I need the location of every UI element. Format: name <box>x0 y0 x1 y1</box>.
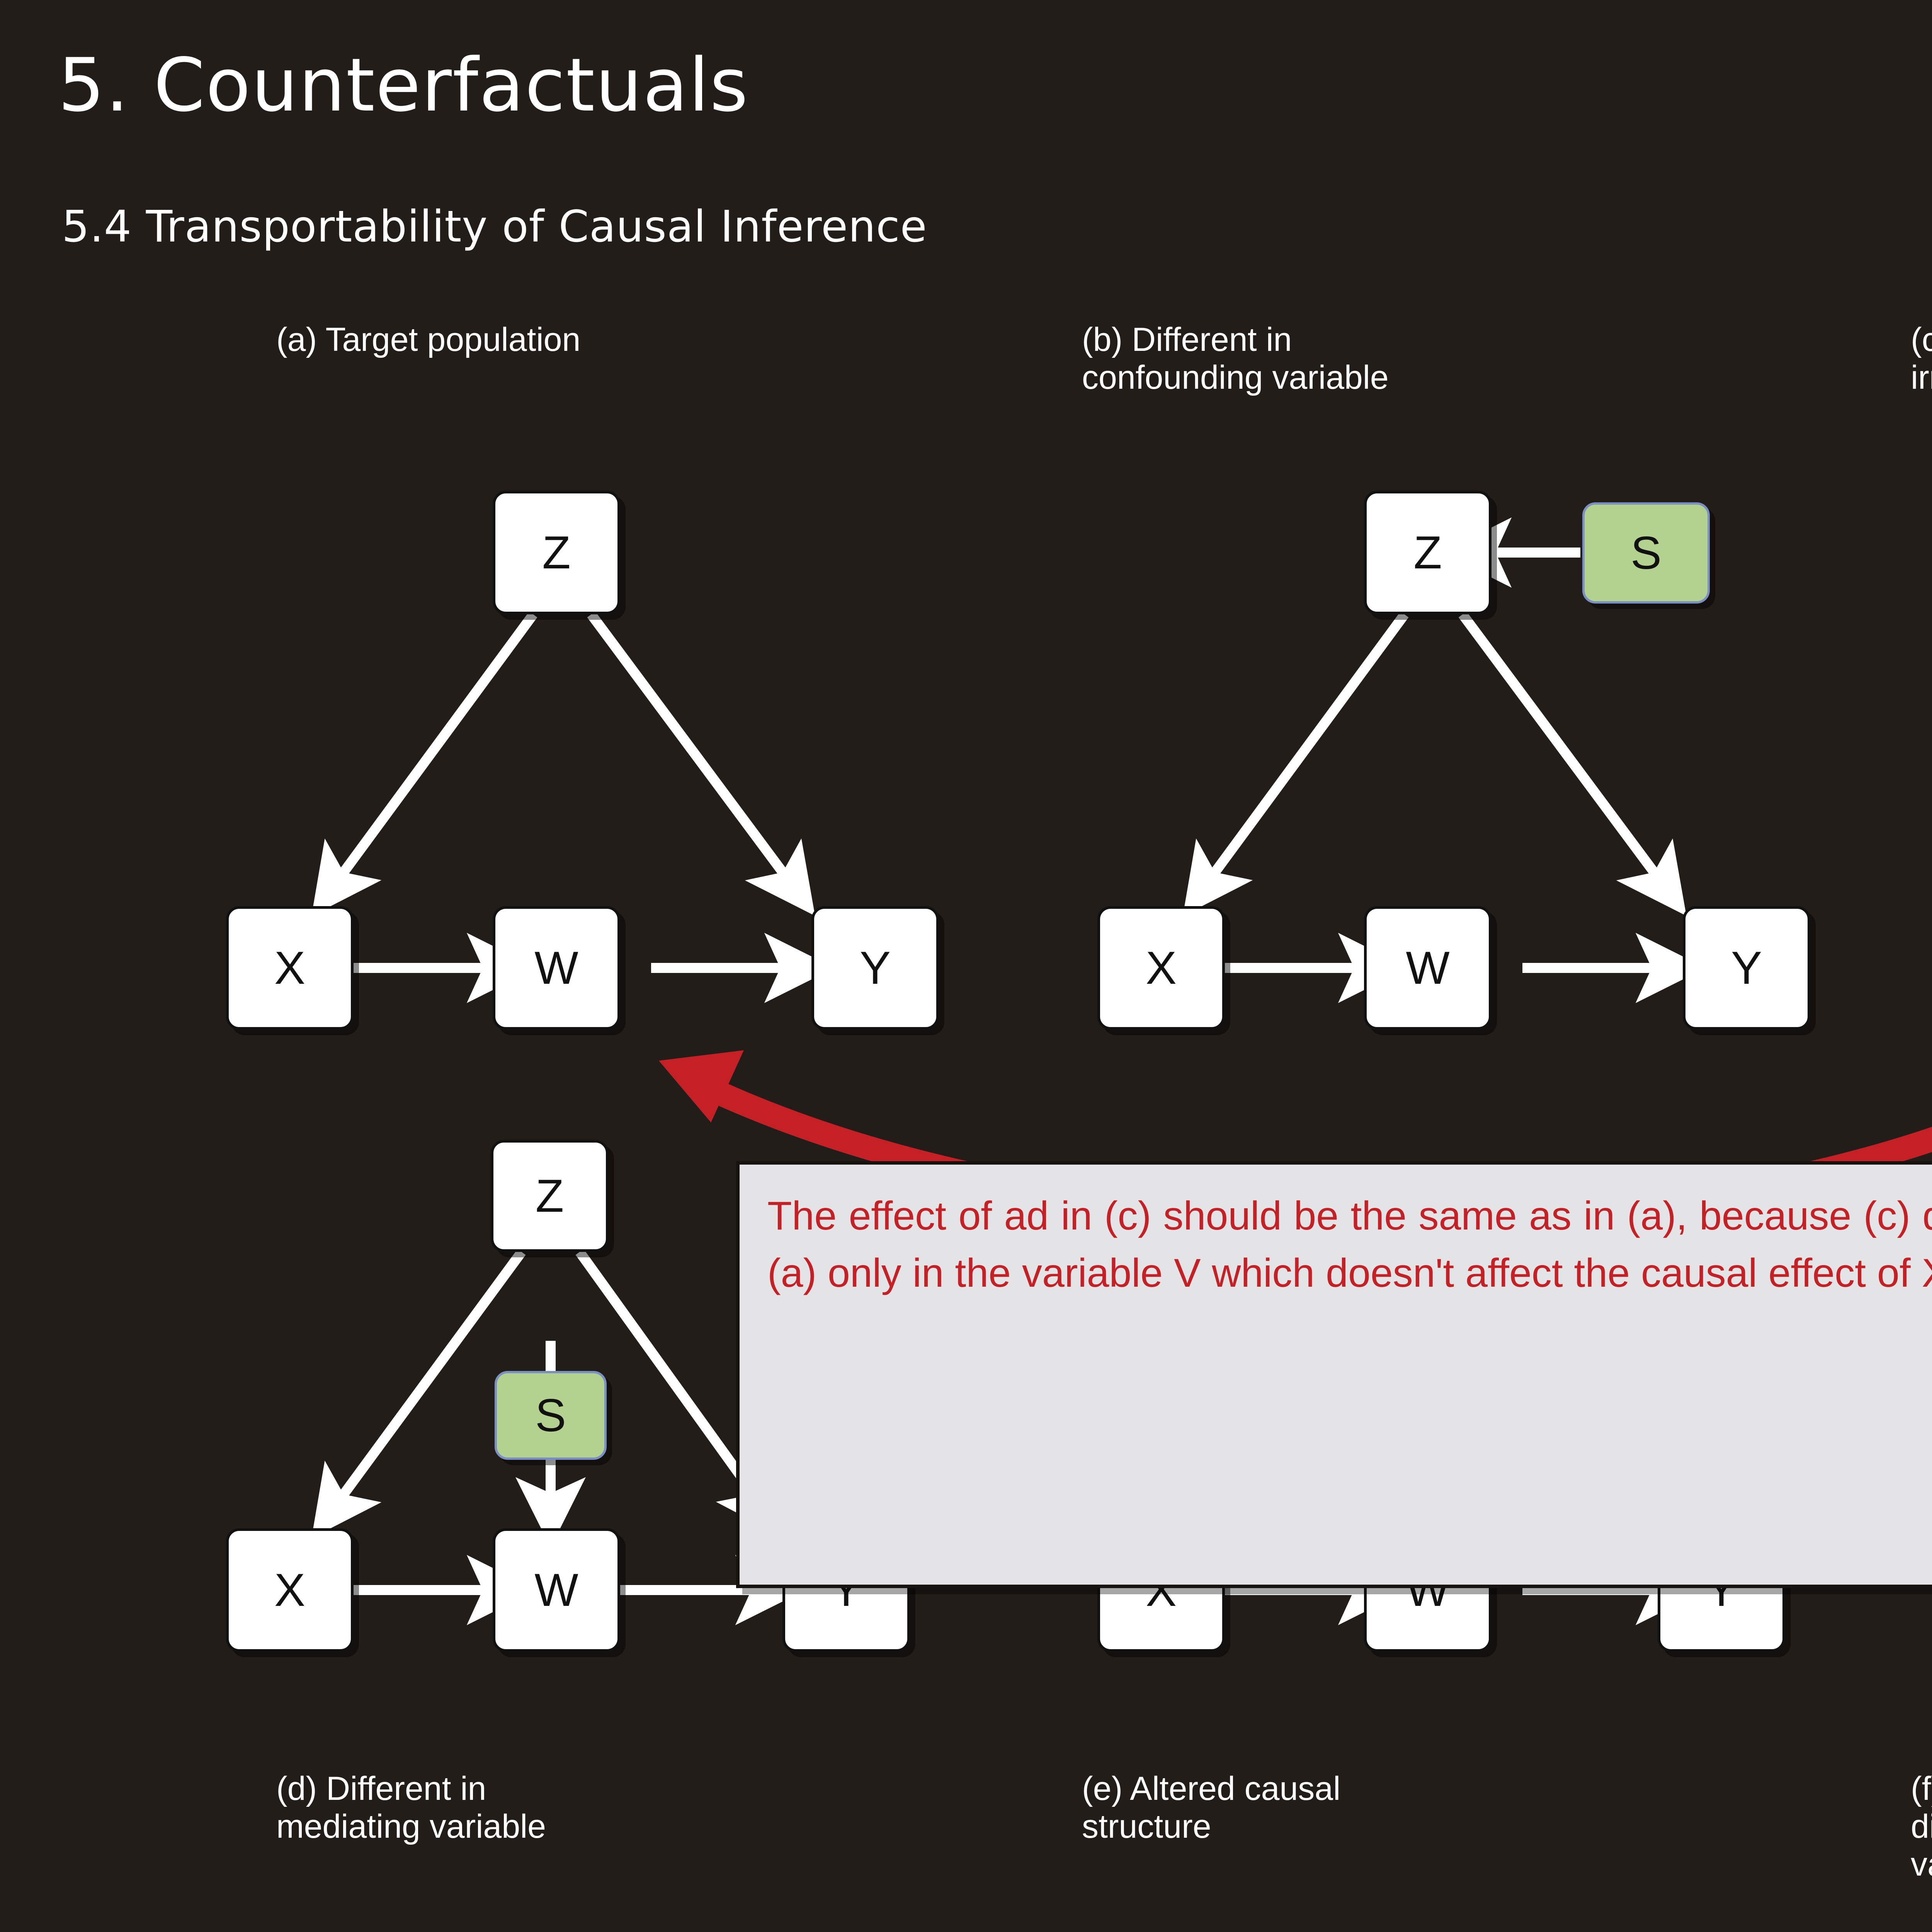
page-title: 5. Counterfactuals <box>58 43 749 128</box>
node-x-panel-b: X <box>1097 906 1225 1030</box>
panel-caption-b: (b) Different in confounding variable <box>1082 321 1389 396</box>
node-x-panel-d: X <box>226 1528 354 1652</box>
panel-caption-e: (e) Altered causal structure <box>1082 1770 1340 1845</box>
node-s-panel-d: S <box>495 1371 607 1460</box>
node-x-panel-a: X <box>226 906 354 1030</box>
panel-caption-f: (f) Altered structure, different in outc… <box>1911 1770 1932 1883</box>
node-w-panel-d: W <box>493 1528 620 1652</box>
node-z-panel-d: Z <box>491 1140 609 1252</box>
node-z-panel-a: Z <box>493 491 620 614</box>
slide-root: 5. Counterfactuals 5.4 Transportability … <box>0 0 1932 1932</box>
node-s-panel-b: S <box>1582 502 1710 604</box>
node-y-panel-a: Y <box>811 906 939 1030</box>
node-w-panel-a: W <box>493 906 620 1030</box>
panel-caption-d: (d) Different in mediating variable <box>276 1770 546 1845</box>
node-y-panel-b: Y <box>1683 906 1810 1030</box>
callout-text: The effect of ad in (c) should be the sa… <box>767 1188 1932 1302</box>
panel-caption-c: (c) Different in irrelevant variable <box>1911 321 1932 396</box>
node-w-panel-b: W <box>1364 906 1492 1030</box>
section-subtitle: 5.4 Transportability of Causal Inference <box>62 202 927 252</box>
panel-caption-a: (a) Target population <box>276 321 580 359</box>
node-z-panel-b: Z <box>1364 491 1492 614</box>
callout-box: The effect of ad in (c) should be the sa… <box>736 1161 1932 1588</box>
